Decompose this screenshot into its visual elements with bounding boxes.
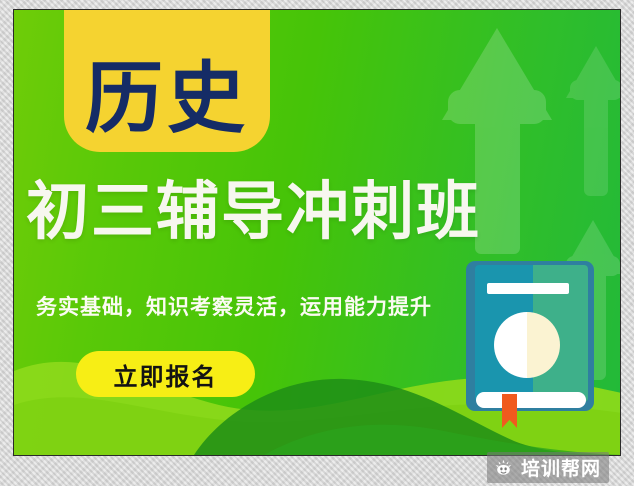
book-pages bbox=[476, 392, 586, 408]
book-bookmark-icon bbox=[502, 394, 517, 428]
book-title-band bbox=[487, 283, 569, 294]
headline: 初三辅导冲刺班 bbox=[26, 178, 606, 246]
subtitle: 务实基础，知识考察灵活，运用能力提升 bbox=[36, 291, 432, 321]
banner-canvas: 历史 初三辅导冲刺班 务实基础，知识考察灵活，运用能力提升 立即报名 bbox=[14, 10, 620, 455]
watermark-label: 培训帮网 bbox=[521, 454, 601, 481]
arrow-up-icon-medium bbox=[566, 46, 620, 196]
promo-banner: 历史 初三辅导冲刺班 务实基础，知识考察灵活，运用能力提升 立即报名 bbox=[13, 9, 621, 456]
subject-badge: 历史 bbox=[64, 10, 270, 152]
enroll-now-label: 立即报名 bbox=[114, 357, 218, 392]
sun-face-icon bbox=[493, 457, 514, 478]
watermark: 培训帮网 bbox=[487, 452, 609, 483]
enroll-now-button[interactable]: 立即报名 bbox=[76, 351, 255, 397]
page-root: 历史 初三辅导冲刺班 务实基础，知识考察灵活，运用能力提升 立即报名 bbox=[0, 0, 634, 486]
subject-badge-label: 历史 bbox=[85, 60, 249, 138]
book-icon bbox=[466, 261, 594, 429]
